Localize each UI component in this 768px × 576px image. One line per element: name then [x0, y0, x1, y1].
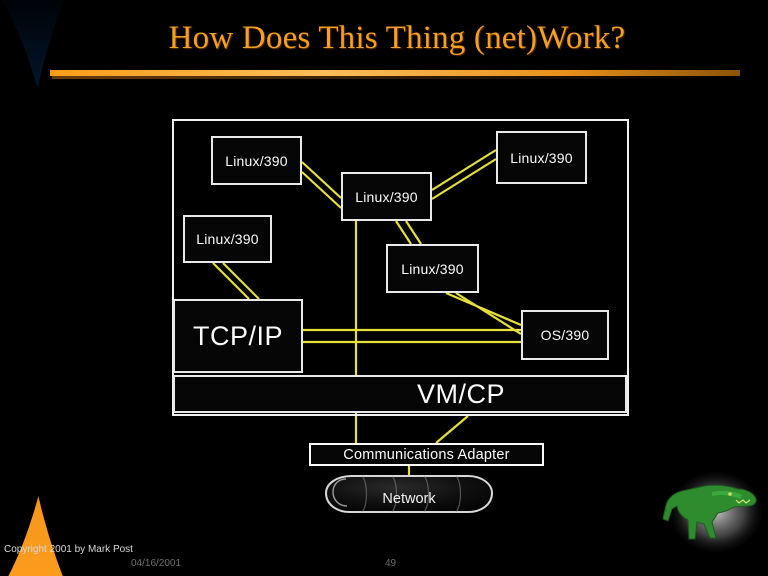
- node-label: Network: [328, 473, 490, 525]
- node-label: TCP/IP: [193, 321, 283, 352]
- node-communications-adapter[interactable]: Communications Adapter: [309, 443, 544, 466]
- copyright-notice: Copyright 2001 by Mark Post: [4, 544, 133, 555]
- node-vm-cp[interactable]: VM/CP: [173, 375, 627, 413]
- node-label: Linux/390: [225, 153, 288, 169]
- node-tcp-ip[interactable]: TCP/IP: [173, 299, 303, 373]
- node-label: OS/390: [541, 327, 590, 343]
- tux-dinosaur-logo: [663, 472, 762, 552]
- slide-canvas: How Does This Thing (net)Work?: [0, 0, 768, 576]
- node-os-390[interactable]: OS/390: [521, 310, 609, 360]
- node-linux-390-5[interactable]: Linux/390: [386, 244, 479, 293]
- node-label: VM/CP: [417, 379, 505, 410]
- node-linux-390-3[interactable]: Linux/390: [496, 131, 587, 184]
- node-linux-390-1[interactable]: Linux/390: [211, 136, 302, 185]
- node-network-cloud[interactable]: Network: [328, 473, 490, 525]
- footer-date: 04/16/2001: [131, 558, 181, 569]
- node-linux-390-4[interactable]: Linux/390: [183, 215, 272, 263]
- node-linux-390-2[interactable]: Linux/390: [341, 172, 432, 221]
- node-label: Linux/390: [196, 231, 259, 247]
- node-label: Linux/390: [401, 261, 464, 277]
- node-label: Linux/390: [355, 189, 418, 205]
- node-label: Communications Adapter: [343, 447, 509, 463]
- node-label: Linux/390: [510, 150, 573, 166]
- footer-page-number: 49: [385, 558, 396, 569]
